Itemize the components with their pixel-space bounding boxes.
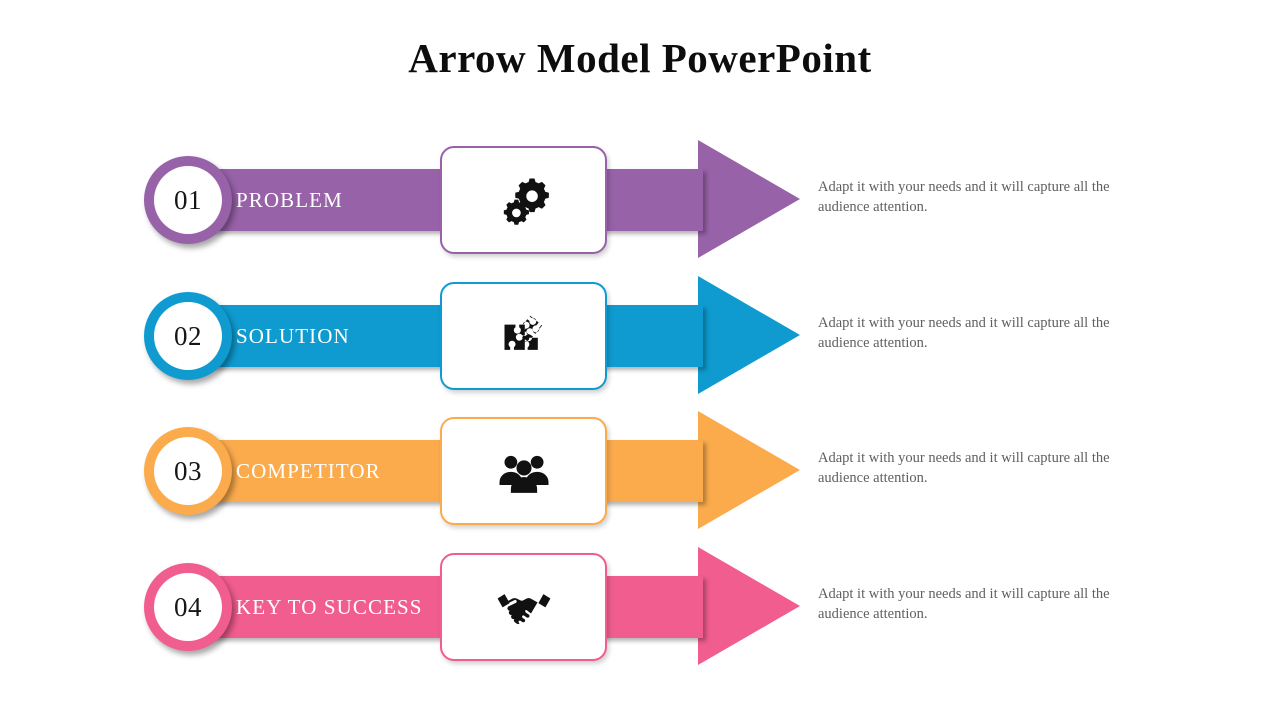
- handshake-icon: [496, 587, 552, 627]
- icon-card-4[interactable]: [440, 553, 607, 661]
- step-badge-2[interactable]: 02: [144, 292, 232, 380]
- arrow-head-3: [698, 411, 800, 529]
- page-title: Arrow Model PowerPoint: [0, 34, 1280, 82]
- people-group-icon: [496, 443, 552, 499]
- step-number-3: 03: [154, 437, 222, 505]
- step-label-4: KEY TO SUCCESS: [236, 576, 423, 638]
- step-number-4: 04: [154, 573, 222, 641]
- gears-icon: [497, 173, 551, 227]
- step-description-2: Adapt it with your needs and it will cap…: [818, 314, 1148, 353]
- arrow-head-4: [698, 547, 800, 665]
- step-number-2: 02: [154, 302, 222, 370]
- icon-card-1[interactable]: [440, 146, 607, 254]
- icon-card-2[interactable]: [440, 282, 607, 390]
- step-description-1: Adapt it with your needs and it will cap…: [818, 178, 1148, 217]
- step-number-1: 01: [154, 166, 222, 234]
- step-row-2: 02 SOLUTION Adapt it with your needs and…: [0, 276, 1280, 411]
- step-row-4: 04 KEY TO SUCCESS Adapt it with your nee…: [0, 547, 1280, 682]
- puzzle-icon: [498, 310, 550, 362]
- step-badge-3[interactable]: 03: [144, 427, 232, 515]
- step-label-2: SOLUTION: [236, 305, 350, 367]
- step-row-3: 03 COMPETITOR Adapt it with your needs a…: [0, 411, 1280, 546]
- arrow-head-2: [698, 276, 800, 394]
- step-description-4: Adapt it with your needs and it will cap…: [818, 585, 1148, 624]
- step-description-3: Adapt it with your needs and it will cap…: [818, 449, 1148, 488]
- step-label-1: PROBLEM: [236, 169, 343, 231]
- step-label-3: COMPETITOR: [236, 440, 381, 502]
- step-row-1: 01 PROBLEM Adapt it with your needs and …: [0, 140, 1280, 275]
- icon-card-3[interactable]: [440, 417, 607, 525]
- slide-canvas: Arrow Model PowerPoint 01 PROBLEM Adapt …: [0, 0, 1280, 720]
- step-badge-4[interactable]: 04: [144, 563, 232, 651]
- arrow-head-1: [698, 140, 800, 258]
- step-badge-1[interactable]: 01: [144, 156, 232, 244]
